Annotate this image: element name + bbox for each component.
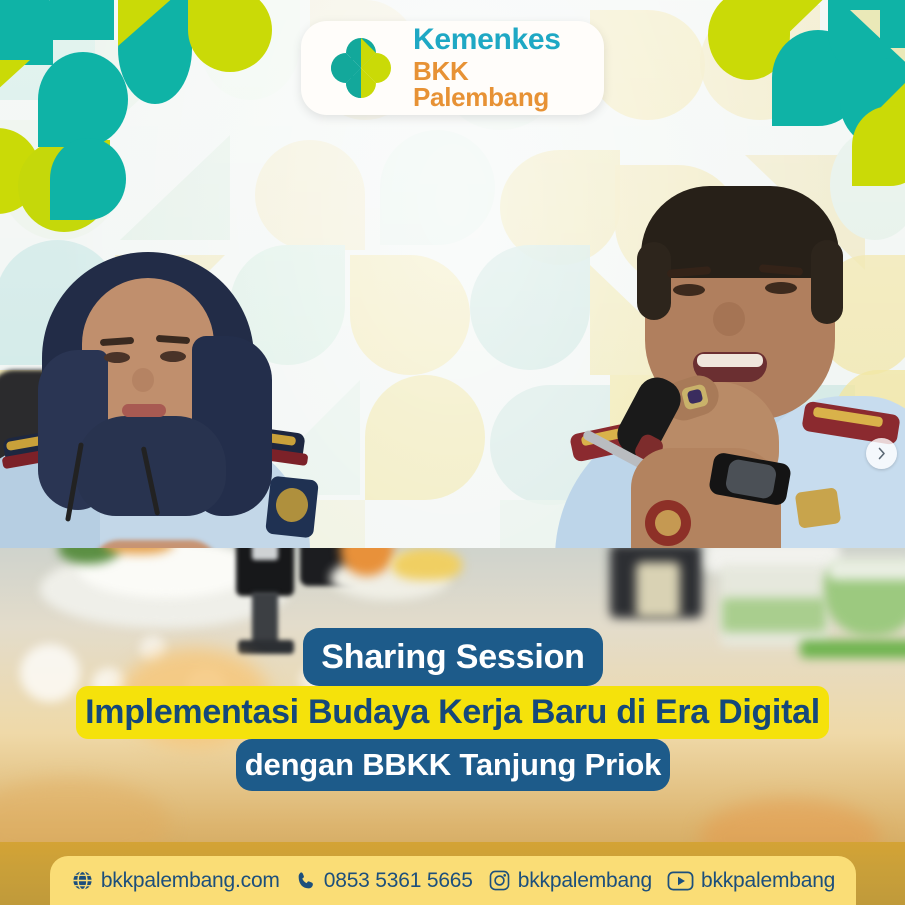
footer-item-instagram[interactable]: bkkpalembang — [488, 869, 652, 893]
brand-wordmark: Kemenkes BKK Palembang — [413, 25, 604, 111]
corner-decoration-top-left — [0, 0, 250, 210]
footer-item-website[interactable]: bkkpalembang.com — [71, 869, 280, 893]
footer-item-phone[interactable]: 0853 5361 5665 — [295, 869, 473, 893]
title-banner-line-3: dengan BBKK Tanjung Priok — [236, 739, 670, 791]
chevron-right-icon — [875, 447, 888, 460]
brand-logo-pill[interactable]: Kemenkes BKK Palembang — [301, 21, 604, 115]
phone-icon — [295, 870, 317, 892]
footer-youtube-text: bkkpalembang — [701, 869, 835, 893]
footer-website-text: bkkpalembang.com — [101, 869, 280, 893]
brand-line-2: BKK Palembang — [413, 58, 604, 111]
youtube-icon — [667, 870, 694, 892]
globe-icon — [71, 869, 94, 892]
corner-decoration-top-right — [700, 0, 905, 200]
brand-line-1: Kemenkes — [413, 25, 604, 56]
kemenkes-petal-logo-icon — [323, 30, 399, 106]
footer-contact-panel: bkkpalembang.com 0853 5361 5665 bkkpalem… — [50, 856, 856, 905]
title-banner-line-2: Implementasi Budaya Kerja Baru di Era Di… — [76, 686, 829, 739]
instagram-icon — [488, 869, 511, 892]
footer-instagram-text: bkkpalembang — [518, 869, 652, 893]
title-banner-line-1: Sharing Session — [303, 628, 603, 686]
right-person-man — [545, 190, 905, 590]
footer-item-youtube[interactable]: bkkpalembang — [667, 869, 835, 893]
footer-phone-text: 0853 5361 5665 — [324, 869, 473, 893]
carousel-next-button[interactable] — [866, 438, 897, 469]
social-media-graphic: Kemenkes BKK Palembang Sharing Session I… — [0, 0, 905, 905]
